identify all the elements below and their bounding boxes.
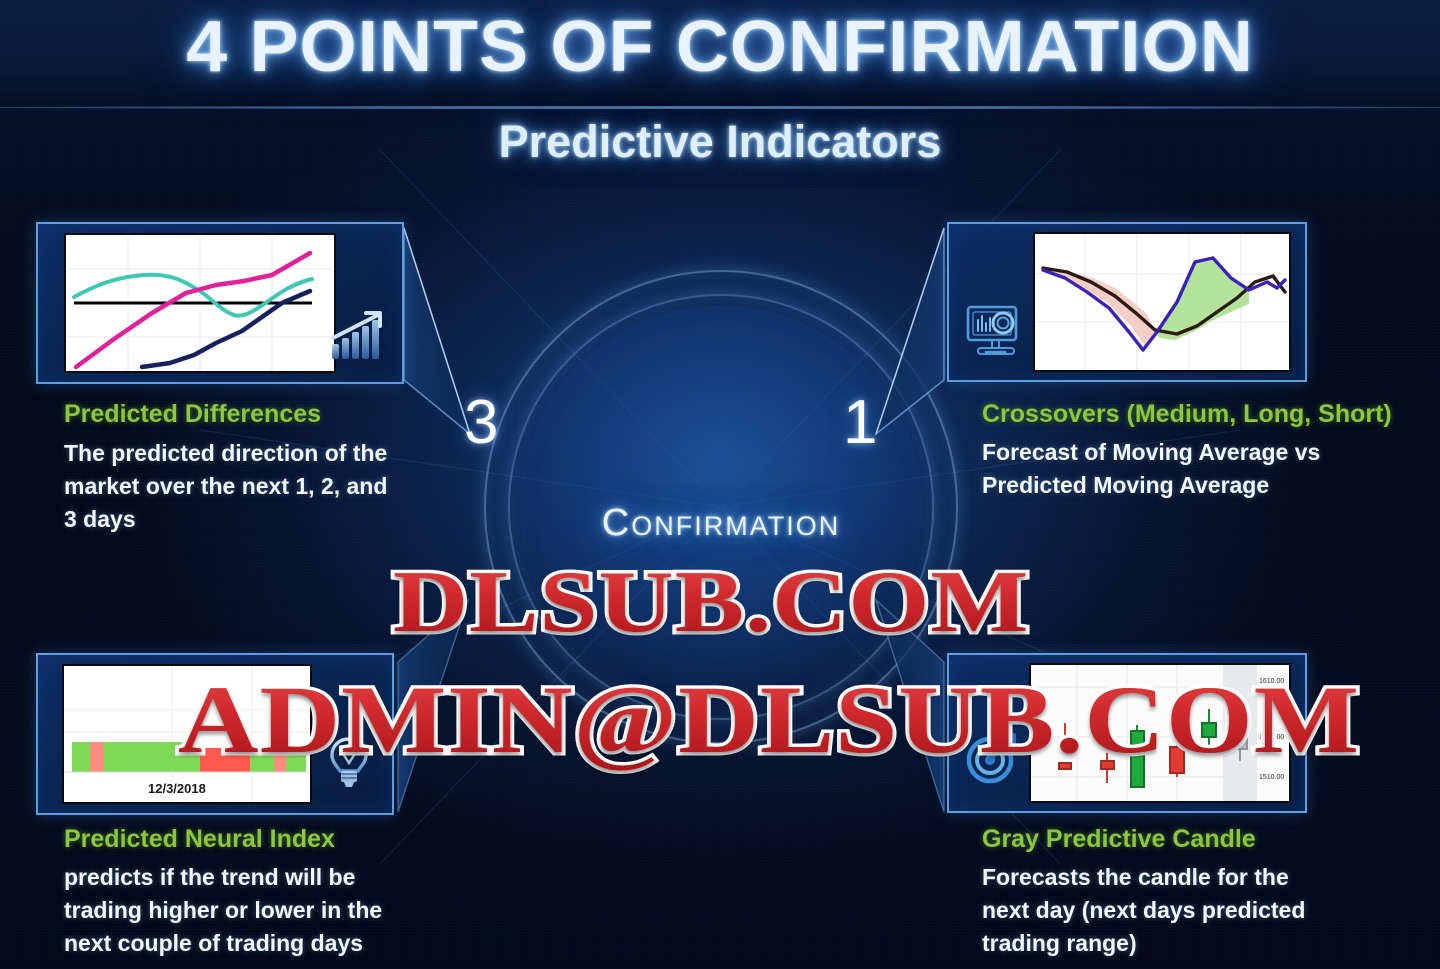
block-title-predicted-neural-index: Predicted Neural Index bbox=[64, 825, 335, 854]
hub-label: Confirmation bbox=[484, 502, 958, 545]
page-title: 4 POINTS OF CONFIRMATION bbox=[0, 6, 1440, 88]
block-title-crossovers: Crossovers (Medium, Long, Short) bbox=[982, 400, 1392, 429]
block-body-predicted-neural-index: predicts if the trend will be trading hi… bbox=[64, 861, 424, 960]
slide-canvas: 4 POINTS OF CONFIRMATION Predictive Indi… bbox=[0, 0, 1440, 969]
point-number-1: 1 bbox=[843, 392, 877, 454]
block-title-gray-predictive-candle: Gray Predictive Candle bbox=[982, 825, 1256, 854]
page-subtitle: Predictive Indicators bbox=[0, 116, 1440, 168]
crossovers-plot bbox=[1035, 234, 1289, 370]
neural-index-date-label: 12/3/2018 bbox=[148, 781, 206, 796]
watermark-email-fill: ADMIN@DLSUB.COM bbox=[178, 664, 1360, 775]
predicted-differences-plot bbox=[66, 235, 334, 371]
block-body-predicted-differences: The predicted direction of the market ov… bbox=[64, 437, 394, 536]
panel-predicted-differences[interactable] bbox=[36, 222, 404, 384]
bar-chart-growth-icon bbox=[326, 308, 388, 364]
chart-crossovers bbox=[1033, 232, 1291, 372]
monitor-analytics-icon bbox=[963, 302, 1029, 360]
block-title-predicted-differences: Predicted Differences bbox=[64, 400, 321, 429]
panel-crossovers[interactable] bbox=[947, 222, 1307, 382]
chart-predicted-differences bbox=[64, 233, 336, 373]
block-body-gray-predictive-candle: Forecasts the candle for the next day (n… bbox=[982, 861, 1327, 960]
block-body-crossovers: Forecast of Moving Average vs Predicted … bbox=[982, 436, 1402, 502]
watermark-site-fill: DLSUB.COM bbox=[393, 552, 1030, 653]
point-number-3: 3 bbox=[464, 392, 498, 454]
svg-text:1510.00: 1510.00 bbox=[1259, 774, 1284, 781]
